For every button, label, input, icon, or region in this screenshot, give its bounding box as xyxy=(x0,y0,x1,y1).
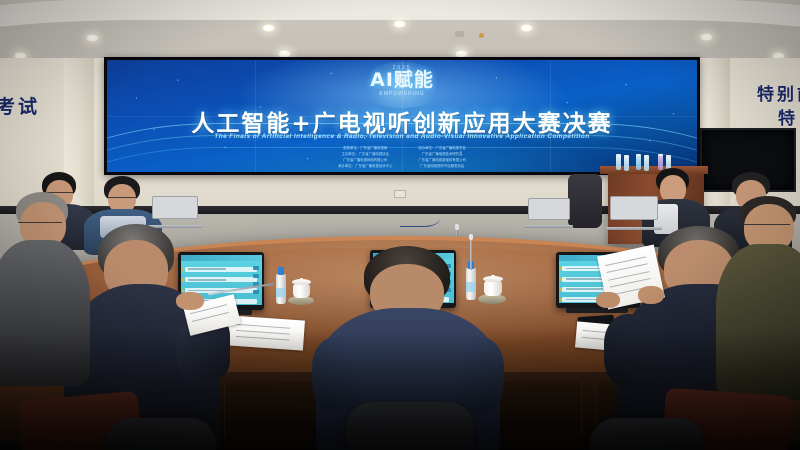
cable xyxy=(400,206,440,227)
led-wall-content: 2025 AI赋能 EMPOWERING 人工智能+广电视听创新应用大赛决赛 T… xyxy=(107,60,697,172)
person-left-profile xyxy=(0,192,90,382)
hand xyxy=(176,292,204,310)
bottle-cap xyxy=(278,267,283,274)
water-bottle-left[interactable] xyxy=(276,274,286,304)
laptop-screen xyxy=(152,196,198,219)
organizer-right: 协办单位：广东省广播电视学会 广东省广播电视技术研究会 广东省广播电视新媒体有限… xyxy=(418,146,465,170)
hand xyxy=(596,292,620,308)
organizer-left: 指导单位：广东省广播电视局 主办单位：广东省广播电视协会 广东省广播电视网络有限… xyxy=(338,146,392,170)
ceiling-downlight xyxy=(520,24,533,32)
person-right-olive xyxy=(722,196,800,396)
chair-left-back[interactable] xyxy=(106,418,216,450)
laptop-screen xyxy=(528,198,570,220)
ceiling-downlight xyxy=(262,24,275,32)
hand xyxy=(638,286,664,304)
laptop-base xyxy=(525,225,574,228)
teacup-left[interactable] xyxy=(293,279,310,299)
ceiling-downlight xyxy=(700,33,713,41)
bottle-label xyxy=(276,288,286,297)
chair-behind-podium xyxy=(568,174,602,228)
chair-center[interactable] xyxy=(346,402,474,450)
wall-outlet xyxy=(394,190,406,198)
laptop-far-right xyxy=(610,196,658,230)
wall-sign-left: 考试 xyxy=(0,92,40,119)
chair-right-back[interactable] xyxy=(590,418,704,450)
ceiling-sensor xyxy=(479,33,484,38)
led-video-wall: 2025 AI赋能 EMPOWERING 人工智能+广电视听创新应用大赛决赛 T… xyxy=(104,57,700,175)
conference-room-photo: 考试 特别前 特 2025 AI赋能 EMPOWERING 人工智能+广电视听创… xyxy=(0,0,800,450)
ceiling-downlight xyxy=(393,20,406,28)
wall-sign-right-line2: 特 xyxy=(778,104,800,129)
ceiling-downlight xyxy=(86,34,99,42)
laptop-screen xyxy=(610,196,658,220)
wall-sign-right-line1: 特别前 xyxy=(757,80,800,105)
laptop-far-right-2 xyxy=(528,198,570,228)
ceiling-speaker xyxy=(455,31,464,37)
